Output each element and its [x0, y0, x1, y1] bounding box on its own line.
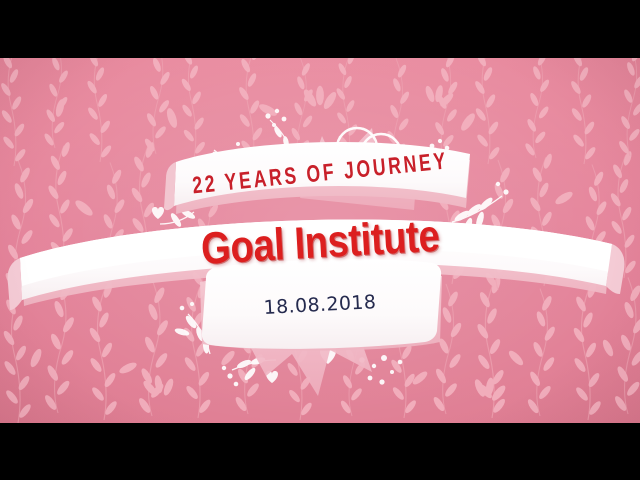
video-frame: 22 YEARS OF JOURNEY Goal Institute 18.08…: [0, 0, 640, 480]
letterbox-bar-bottom: [0, 423, 640, 480]
letterbox-bar-top: [0, 0, 640, 58]
anniversary-card: 22 YEARS OF JOURNEY Goal Institute 18.08…: [0, 58, 640, 423]
